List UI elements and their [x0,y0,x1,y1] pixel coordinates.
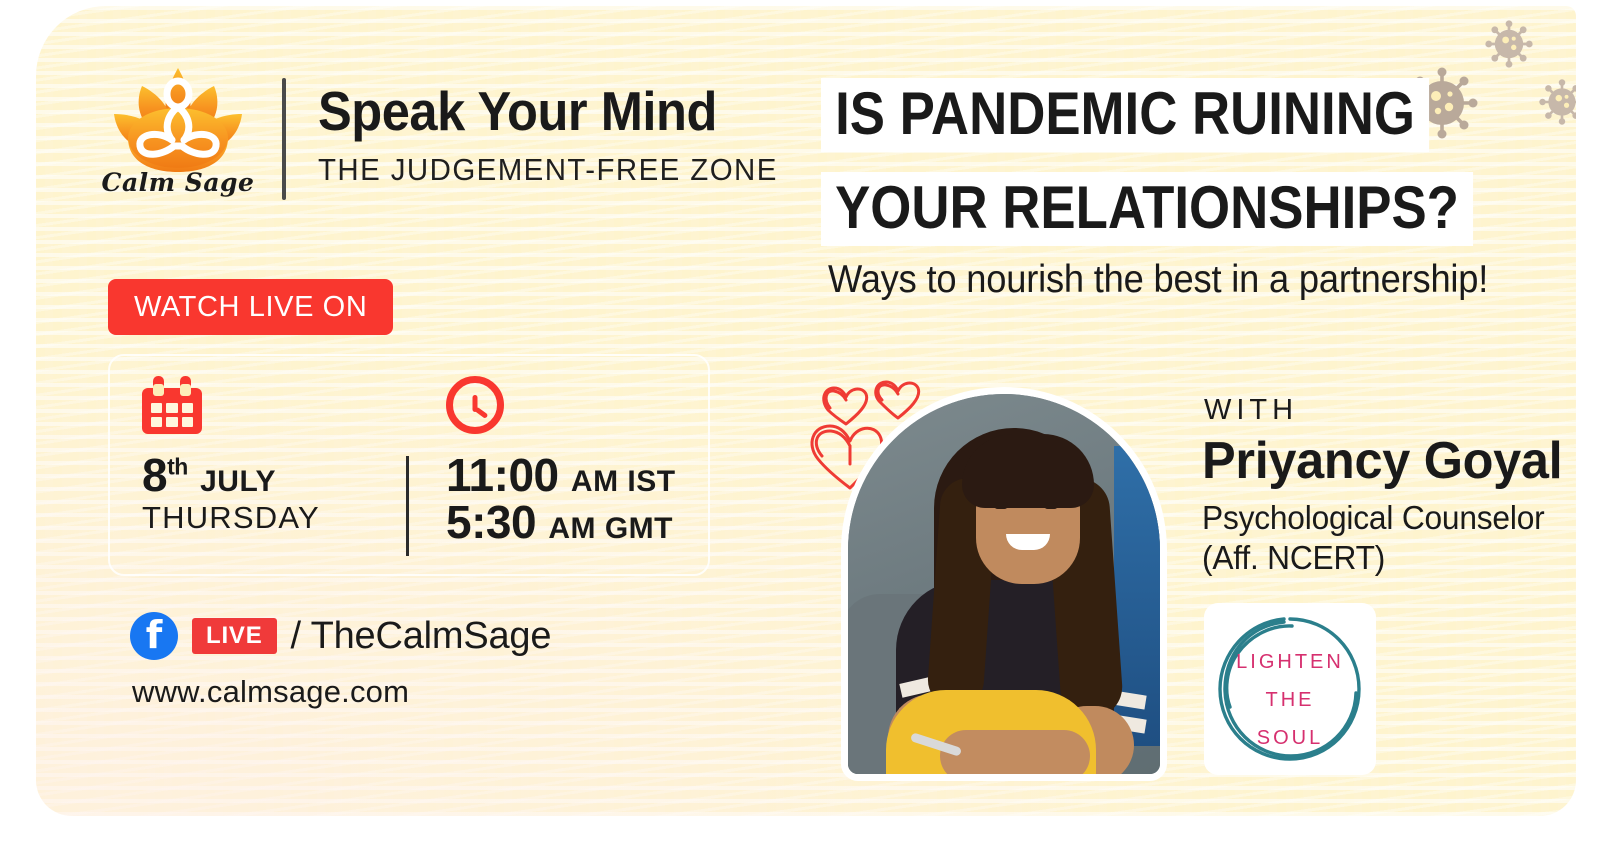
with-label: WITH [1204,394,1298,427]
time-gmt-line: 5:30 AM GMT [446,499,708,546]
facebook-handle[interactable]: / TheCalmSage [291,615,552,658]
time-text: 11:00 AM IST 5:30 AM GMT [446,452,708,546]
headline-subtitle: Ways to nourish the best in a partnershi… [828,258,1488,302]
lotus-meditation-icon [98,64,258,176]
date-text: 8th JULY THURSDAY [142,452,404,538]
website-url[interactable]: www.calmsage.com [132,674,409,710]
date-month: JULY [200,465,276,498]
coronavirus-icon-svg [1484,19,1534,69]
facebook-icon[interactable]: f [130,612,178,660]
calm-sage-logo: Calm Sage [98,64,258,209]
partner-logo-card: LIGHTEN THE SOUL [1204,603,1376,775]
schedule-box: 8th JULY THURSDAY 11:00 AM IST 5:30 [108,354,710,576]
partner-line-1: LIGHTEN [1204,651,1376,674]
speaker-affiliation: (Aff. NCERT) [1202,539,1385,577]
header-divider [282,78,286,200]
time-ist-line: 11:00 AM IST [446,452,708,499]
clock-icon [446,376,504,434]
time-gmt-unit: AM GMT [548,512,673,545]
show-tagline: THE JUDGEMENT-FREE ZONE [318,154,850,185]
coronavirus-icon [1538,78,1576,126]
webinar-banner: Calm Sage Speak Your Mind THE JUDGEMENT-… [0,0,1610,842]
live-badge: LIVE [192,618,277,654]
date-day-number: 8 [142,449,167,501]
speaker-portrait [848,394,1160,774]
date-column: 8th JULY THURSDAY [110,356,404,574]
date-day-line: 8th JULY [142,452,404,499]
headline-line-2-wrap: YOUR RELATIONSHIPS? [821,172,1562,246]
facebook-live-row[interactable]: f LIVE / TheCalmSage [130,612,551,660]
partner-line-2: THE [1204,689,1376,712]
headline-line-2: YOUR RELATIONSHIPS? [821,172,1473,246]
date-weekday: THURSDAY [142,499,404,538]
watch-live-label: WATCH LIVE ON [134,291,367,324]
watch-live-badge[interactable]: WATCH LIVE ON [108,279,393,335]
headline-line-1: IS PANDEMIC RUINING [821,78,1429,152]
time-column: 11:00 AM IST 5:30 AM GMT [404,356,708,574]
banner-card: Calm Sage Speak Your Mind THE JUDGEMENT-… [36,6,1576,816]
coronavirus-icon-svg [1538,78,1576,126]
calendar-icon [142,376,202,434]
time-ist-value: 11:00 [446,449,559,501]
headline-line-1-wrap: IS PANDEMIC RUINING [821,78,1512,152]
time-gmt-value: 5:30 [446,496,536,548]
coronavirus-icon [1484,19,1534,69]
speaker-name: Priyancy Goyal [1202,431,1562,491]
date-day-suffix: th [167,454,188,480]
show-title: Speak Your Mind [318,84,796,139]
partner-line-3: SOUL [1204,727,1376,750]
logo-wordmark: Calm Sage [98,168,258,197]
time-ist-unit: AM IST [571,465,676,498]
speaker-role: Psychological Counselor [1202,498,1544,538]
